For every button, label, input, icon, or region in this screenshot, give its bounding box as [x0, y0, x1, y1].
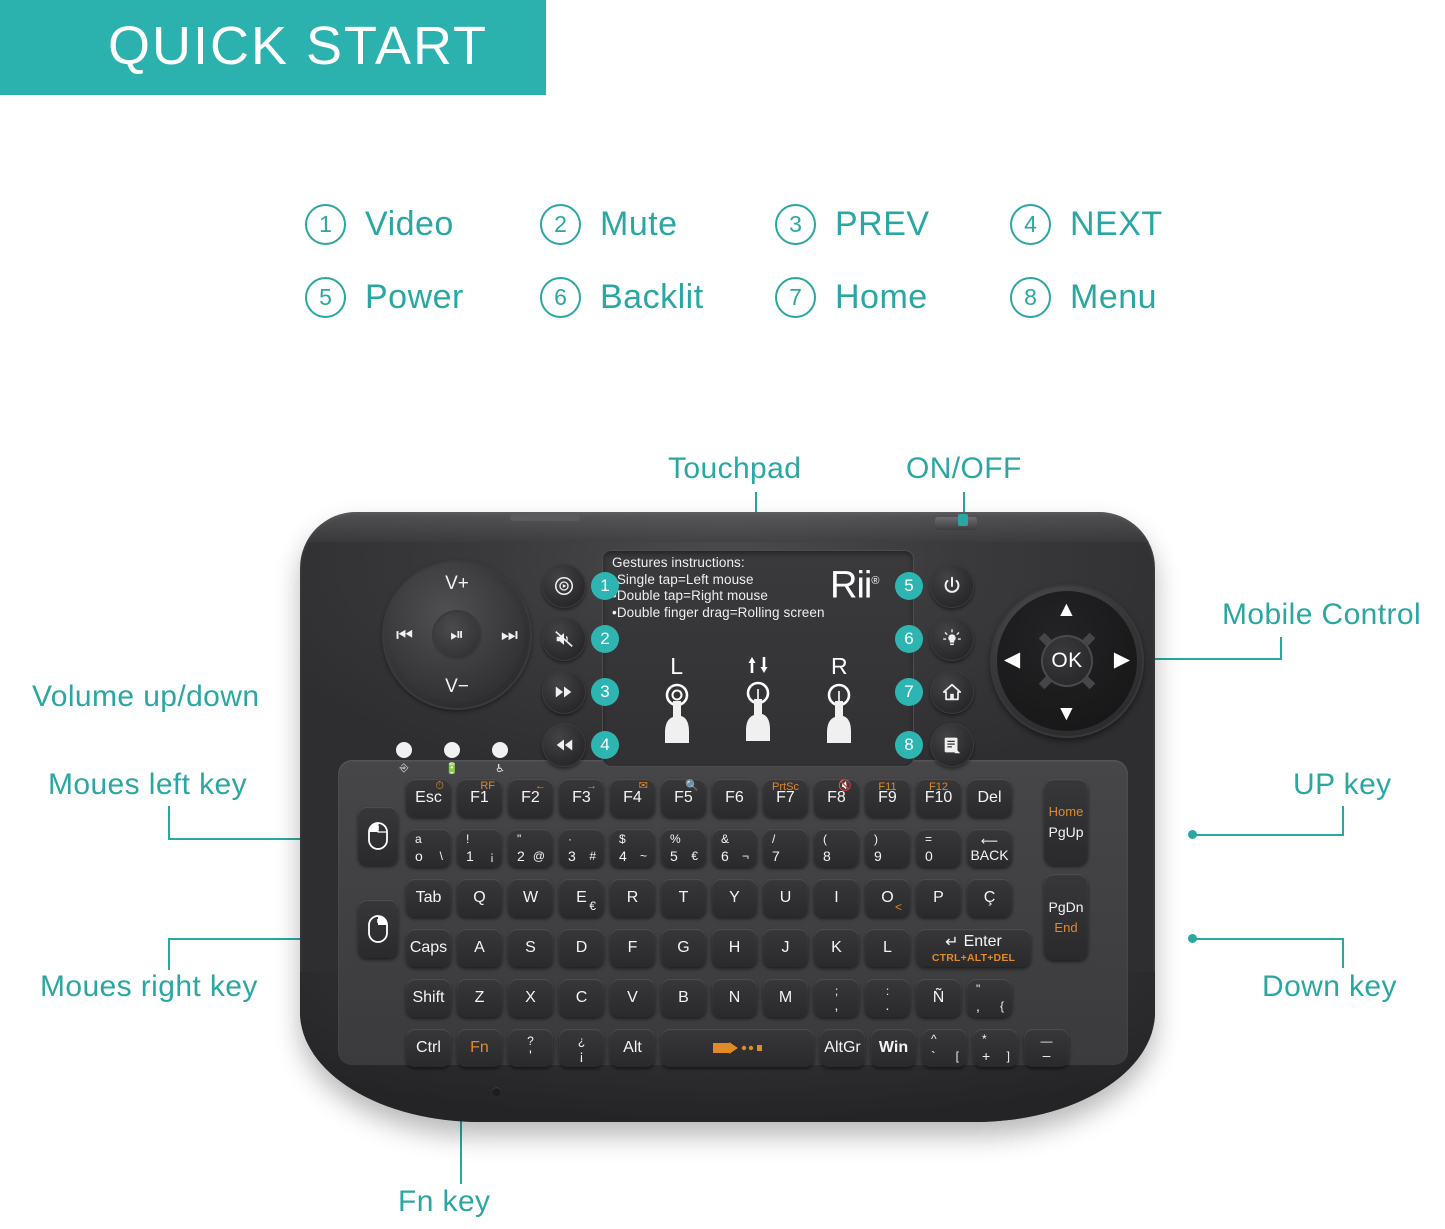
power-icon — [941, 575, 963, 597]
legend-label: Backlit — [600, 278, 704, 317]
key-pgup-label: PgUp — [1048, 824, 1083, 840]
key-tab[interactable]: Tab — [406, 879, 451, 917]
legend-number-circle: 8 — [1010, 277, 1051, 318]
key-y[interactable]: Y — [712, 879, 757, 917]
gesture-scroll — [727, 655, 789, 750]
gesture-line-3: •Double finger drag=Rolling screen — [612, 605, 825, 622]
key-4[interactable]: $4~ — [610, 829, 655, 867]
key-h[interactable]: H — [712, 929, 757, 967]
keyboard-top-lip — [300, 512, 1155, 542]
next-track-button[interactable] — [542, 670, 586, 714]
key-f9[interactable]: F9 F11 — [865, 779, 910, 817]
key-f9-sup: F11 — [865, 781, 910, 793]
key-m[interactable]: M — [763, 979, 808, 1017]
legend-row-1: 1 Video 2 Mute 3 PREV 4 NEXT — [305, 188, 1245, 261]
search-icon: 🔍 — [685, 781, 699, 792]
leader-dot-down — [1188, 934, 1197, 943]
caps-lock-led-icon: ⎆ — [396, 762, 412, 775]
legend-label: Mute — [600, 205, 678, 244]
key-asterisk-plus[interactable]: *+] — [973, 1029, 1018, 1067]
key-w[interactable]: W — [508, 879, 553, 917]
key-row-bottom-alpha: Shift Z X C V B N M ;, :. Ñ ",{ — [406, 979, 1018, 1017]
key-f5[interactable]: F5 🔍 — [661, 779, 706, 817]
key-end-label: End — [1054, 920, 1077, 935]
legend-label: Video — [365, 205, 454, 244]
key-b[interactable]: B — [661, 979, 706, 1017]
mouse-left-icon — [367, 821, 389, 851]
key-del[interactable]: Del — [967, 779, 1012, 817]
key-win[interactable]: Win — [871, 1029, 916, 1067]
key-enter[interactable]: ↵Enter CTRL+ALT+DEL — [916, 929, 1031, 967]
legend-item-home: 7 Home — [775, 277, 1010, 318]
next-track-icon — [553, 681, 575, 703]
power-button[interactable] — [930, 564, 974, 608]
callout-mouse-right: Moues right key — [40, 970, 258, 1004]
status-led-group: ⎆ 🔋 ♿ — [396, 742, 508, 758]
gesture-scroll-label — [727, 655, 789, 675]
quick-start-banner: QUICK START — [0, 0, 546, 95]
key-p[interactable]: P — [916, 879, 961, 917]
dpad-right-icon[interactable]: ▶ — [1114, 647, 1130, 672]
leader-dot-up — [1188, 830, 1197, 839]
key-o[interactable]: O< — [865, 879, 910, 917]
key-r[interactable]: R — [610, 879, 655, 917]
backlit-button[interactable] — [930, 617, 974, 661]
legend-label: Home — [835, 278, 928, 317]
legend-number-circle: 3 — [775, 204, 816, 245]
key-ccedilla[interactable]: Ç — [967, 879, 1012, 917]
leader-line-up-h — [1192, 834, 1344, 836]
keyboard-body: V+ V− ⏮ ⏭ ⏯ — [300, 512, 1155, 1122]
key-row-function: Esc ⏱ F1 RF F2 ← F3 → F4 ✉ F5 🔍 F6 F7 Pr… — [406, 779, 1018, 817]
key-caret-bracket[interactable]: ^`[ — [922, 1029, 967, 1067]
callout-volume: Volume up/down — [32, 680, 259, 714]
dpad-up-icon[interactable]: ▲ — [1056, 598, 1077, 622]
legend-number-circle: 5 — [305, 277, 346, 318]
double-tap-hand-icon — [817, 677, 861, 745]
battery-charge-led — [444, 742, 460, 758]
play-pause-button[interactable]: ⏯ — [432, 610, 482, 660]
key-row-qwerty: Tab Q W E€ R T Y U I O< P Ç — [406, 879, 1018, 917]
key-fn[interactable]: Fn — [457, 1029, 502, 1067]
key-pgdn-end[interactable]: PgDn End — [1044, 874, 1088, 960]
key-7[interactable]: /7 — [763, 829, 808, 867]
menu-button[interactable] — [930, 723, 974, 767]
legend-number-circle: 1 — [305, 204, 346, 245]
legend-item-mute: 2 Mute — [540, 204, 775, 245]
key-c[interactable]: C — [559, 979, 604, 1017]
volume-media-pad[interactable]: V+ V− ⏮ ⏭ ⏯ — [382, 560, 532, 710]
key-f4[interactable]: F4 ✉ — [610, 779, 655, 817]
key-esc[interactable]: Esc ⏱ — [406, 779, 451, 817]
gesture-heading: Gestures instructions: — [612, 555, 825, 572]
key-1[interactable]: !1¡ — [457, 829, 502, 867]
video-button[interactable] — [542, 564, 586, 608]
callout-down-key: Down key — [1262, 970, 1397, 1004]
prev-track-button[interactable] — [542, 723, 586, 767]
key-backspace[interactable]: ⟵BACK — [967, 829, 1012, 867]
key-question[interactable]: ?' — [508, 1029, 553, 1067]
battery-charge-led-icon: 🔋 — [444, 762, 460, 775]
legend-number-circle: 6 — [540, 277, 581, 318]
legend-item-video: 1 Video — [305, 204, 540, 245]
key-k[interactable]: K — [814, 929, 859, 967]
key-altgr[interactable]: AltGr — [820, 1029, 865, 1067]
key-home-pgup[interactable]: Home PgUp — [1044, 779, 1088, 865]
key-f10-sup: F12 — [916, 781, 961, 793]
key-row-numbers: ao\ !1¡ "2@ ·3# $4~ %5€ &6¬ /7 (8 )9 =0 … — [406, 829, 1018, 867]
key-6[interactable]: &6¬ — [712, 829, 757, 867]
space-backlight-icon — [711, 1039, 765, 1057]
mute-button[interactable] — [542, 617, 586, 661]
legend-item-prev: 3 PREV — [775, 204, 1010, 245]
power-switch[interactable] — [935, 517, 977, 530]
mouse-right-key[interactable] — [358, 900, 398, 958]
key-9[interactable]: )9 — [865, 829, 910, 867]
wireless-led-icon: ♿ — [492, 762, 508, 775]
key-f2[interactable]: F2 ← — [508, 779, 553, 817]
legend-item-menu: 8 Menu — [1010, 277, 1245, 318]
key-f8[interactable]: F8 🔇 — [814, 779, 859, 817]
dpad-ok-button[interactable]: OK — [1041, 635, 1093, 687]
backlit-icon — [941, 628, 963, 650]
legend-item-backlit: 6 Backlit — [540, 277, 775, 318]
mouse-right-icon — [367, 914, 389, 944]
clock-icon: ⏱ — [435, 781, 444, 792]
key-dash[interactable]: —– — [1024, 1029, 1069, 1067]
wireless-led — [492, 742, 508, 758]
brand-logo: Rii® — [830, 562, 878, 605]
legend-label: Menu — [1070, 278, 1157, 317]
volume-down-label[interactable]: V− — [382, 676, 532, 698]
double-arrow-updown-icon — [744, 655, 772, 675]
dpad-down-icon[interactable]: ▼ — [1056, 702, 1077, 726]
legend-label: PREV — [835, 205, 930, 244]
key-u[interactable]: U — [763, 879, 808, 917]
single-tap-hand-icon — [655, 677, 699, 745]
gesture-right-label: R — [808, 655, 870, 677]
key-e[interactable]: E€ — [559, 879, 604, 917]
key-f3[interactable]: F3 → — [559, 779, 604, 817]
gesture-right-click: R — [808, 655, 870, 750]
key-s[interactable]: S — [508, 929, 553, 967]
leader-line-mouse-right-v — [168, 938, 170, 970]
mute-icon — [553, 628, 575, 650]
key-row-home: Caps A S D F G H J K L ↵Enter CTRL+ALT+D… — [406, 929, 1037, 967]
leader-line-mouse-left-v — [168, 806, 170, 838]
key-q[interactable]: Q — [457, 879, 502, 917]
badge-7: 7 — [895, 678, 923, 706]
legend-label: NEXT — [1070, 205, 1163, 244]
key-row-modifiers: Ctrl Fn ?' ¿¡ Alt AltGr Win ^`[ *+] —– — [406, 1029, 1075, 1067]
callout-mouse-left: Moues left key — [48, 768, 247, 802]
key-caps[interactable]: Caps — [406, 929, 451, 967]
backspace-arrow-icon: ⟵ — [981, 834, 998, 848]
key-2[interactable]: "2@ — [508, 829, 553, 867]
media-button-column — [542, 564, 586, 776]
volume-up-label[interactable]: V+ — [382, 573, 532, 595]
mouse-left-key[interactable] — [358, 807, 398, 865]
legend-number-circle: 2 — [540, 204, 581, 245]
key-x[interactable]: X — [508, 979, 553, 1017]
callout-fn-key: Fn key — [398, 1185, 490, 1219]
key-z[interactable]: Z — [457, 979, 502, 1017]
microphone-hole — [492, 1087, 501, 1096]
dpad-left-icon[interactable]: ◀ — [1004, 647, 1020, 672]
key-f7-sup: PrtSc — [763, 781, 808, 793]
key-f1-sup: RF — [480, 781, 495, 792]
key-colon[interactable]: :. — [865, 979, 910, 1017]
key-f6[interactable]: F6 — [712, 779, 757, 817]
key-8[interactable]: (8 — [814, 829, 859, 867]
key-a[interactable]: A — [457, 929, 502, 967]
key-inverted-question[interactable]: ¿¡ — [559, 1029, 604, 1067]
callout-onoff: ON/OFF — [906, 452, 1022, 486]
key-space[interactable] — [661, 1029, 814, 1067]
key-j[interactable]: J — [763, 929, 808, 967]
page-title: QUICK START — [108, 13, 488, 79]
key-n[interactable]: N — [712, 979, 757, 1017]
gesture-line-1: •Single tap=Left mouse — [612, 572, 825, 589]
prev-track-icon — [553, 734, 575, 756]
double-finger-drag-hand-icon — [736, 675, 780, 743]
badge-6: 6 — [895, 625, 923, 653]
key-quote-brace[interactable]: ",{ — [967, 979, 1012, 1017]
keyboard-vent — [510, 514, 580, 521]
mobile-control-dpad[interactable]: ▲ ▼ ◀ ▶ OK — [990, 584, 1144, 738]
key-i[interactable]: I — [814, 879, 859, 917]
key-ctrl[interactable]: Ctrl — [406, 1029, 451, 1067]
key-home-label: Home — [1049, 804, 1084, 819]
key-d[interactable]: D — [559, 929, 604, 967]
key-v[interactable]: V — [610, 979, 655, 1017]
gesture-line-2: •Double tap=Right mouse — [612, 588, 825, 605]
key-f7[interactable]: F7 PrtSc — [763, 779, 808, 817]
key-pgdn-label: PgDn — [1048, 899, 1083, 915]
badge-8: 8 — [895, 731, 923, 759]
video-icon — [553, 575, 575, 597]
power-switch-indicator — [958, 514, 968, 526]
arrow-right-icon: → — [586, 781, 597, 792]
prev-track-icon[interactable]: ⏮ — [396, 625, 413, 647]
callout-up-key: UP key — [1293, 768, 1392, 802]
key-f10[interactable]: F10 F12 — [916, 779, 961, 817]
home-icon — [941, 681, 963, 703]
leader-line-mobile-v — [1280, 637, 1282, 659]
menu-icon — [941, 734, 963, 756]
legend-item-power: 5 Power — [305, 277, 540, 318]
key-0[interactable]: =0 — [916, 829, 961, 867]
key-f[interactable]: F — [610, 929, 655, 967]
legend-list: 1 Video 2 Mute 3 PREV 4 NEXT 5 Power 6 B… — [305, 188, 1245, 334]
badge-1: 1 — [591, 572, 619, 600]
badge-3: 3 — [591, 678, 619, 706]
next-track-icon[interactable]: ⏭ — [501, 625, 518, 647]
leader-line-down-h — [1192, 938, 1344, 940]
key-shift[interactable]: Shift — [406, 979, 451, 1017]
key-ntilde[interactable]: Ñ — [916, 979, 961, 1017]
system-button-column — [930, 564, 974, 776]
gesture-instructions: Gestures instructions: •Single tap=Left … — [612, 555, 825, 621]
badge-4: 4 — [591, 731, 619, 759]
key-semicolon[interactable]: ;, — [814, 979, 859, 1017]
callout-touchpad: Touchpad — [668, 452, 801, 486]
mute-speaker-icon: 🔇 — [838, 781, 852, 792]
legend-number-circle: 4 — [1010, 204, 1051, 245]
key-t[interactable]: T — [661, 879, 706, 917]
caps-lock-led — [396, 742, 412, 758]
touchpad[interactable]: Gestures instructions: •Single tap=Left … — [602, 550, 914, 767]
legend-label: Power — [365, 278, 464, 317]
home-button[interactable] — [930, 670, 974, 714]
key-l[interactable]: L — [865, 929, 910, 967]
leader-line-down-v — [1342, 938, 1344, 968]
key-g[interactable]: G — [661, 929, 706, 967]
badge-2: 2 — [591, 625, 619, 653]
key-enter-secondary: CTRL+ALT+DEL — [932, 952, 1015, 964]
leader-line-up-v — [1342, 806, 1344, 834]
touchpad-gesture-icons: L — [602, 655, 914, 750]
legend-item-next: 4 NEXT — [1010, 204, 1245, 245]
key-f1[interactable]: F1 RF — [457, 779, 502, 817]
gesture-left-click: L — [646, 655, 708, 750]
mail-icon: ✉ — [639, 781, 648, 792]
legend-row-2: 5 Power 6 Backlit 7 Home 8 Menu — [305, 261, 1245, 334]
arrow-left-icon: ← — [535, 781, 546, 792]
key-ao-backslash[interactable]: ao\ — [406, 829, 451, 867]
badge-5: 5 — [895, 572, 923, 600]
callout-mobile-control: Mobile Control — [1222, 598, 1421, 632]
key-alt[interactable]: Alt — [610, 1029, 655, 1067]
gesture-left-label: L — [646, 655, 708, 677]
legend-number-circle: 7 — [775, 277, 816, 318]
key-3[interactable]: ·3# — [559, 829, 604, 867]
key-5[interactable]: %5€ — [661, 829, 706, 867]
enter-arrow-icon: ↵ — [945, 932, 958, 952]
play-pause-icon: ⏯ — [450, 625, 464, 645]
